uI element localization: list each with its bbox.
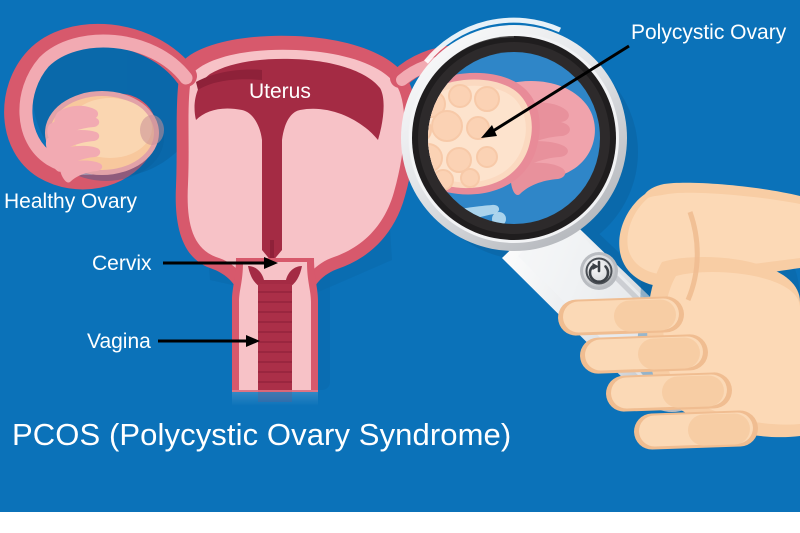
power-reset-button[interactable] bbox=[580, 252, 618, 290]
bottom-reflection bbox=[232, 390, 318, 406]
illustration-title: PCOS (Polycystic Ovary Syndrome) bbox=[12, 417, 511, 453]
label-cervix: Cervix bbox=[92, 252, 152, 276]
label-uterus: Uterus bbox=[249, 80, 311, 104]
magnifier-lens[interactable] bbox=[397, 20, 627, 251]
label-vagina: Vagina bbox=[87, 330, 151, 354]
illustration-canvas: Uterus Healthy Ovary Cervix Vagina Polyc… bbox=[0, 0, 800, 533]
vaginal-canal bbox=[258, 284, 292, 390]
label-healthy-ovary: Healthy Ovary bbox=[4, 190, 137, 214]
cervix-vagina bbox=[232, 258, 318, 406]
label-polycystic-ovary: Polycystic Ovary bbox=[631, 21, 786, 45]
